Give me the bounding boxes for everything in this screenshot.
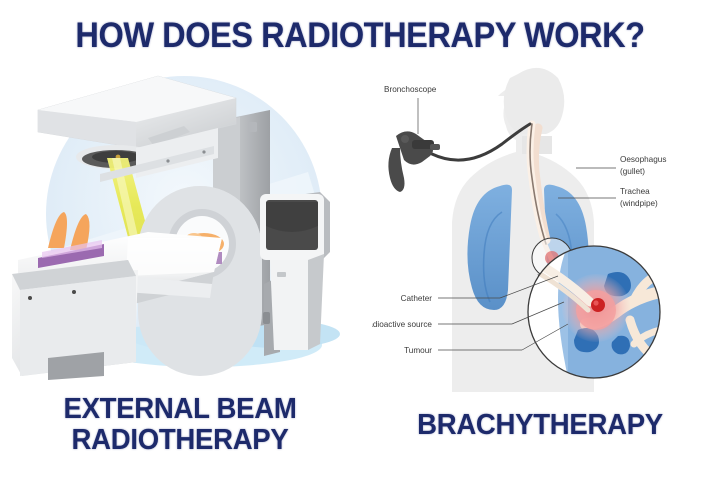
bronchoscope-device [388,131,440,192]
console-button [277,272,286,277]
linac-illustration [8,62,360,392]
magnified-inset [526,246,660,378]
console-handle [263,312,270,324]
radioactive-source-highlight [593,300,598,305]
label-oesophagus: Oesophagus [620,155,666,164]
base-bolt-2 [72,290,76,294]
label-bronchoscope: Bronchoscope [384,85,437,94]
label-oesophagus-sub: (gullet) [620,167,645,176]
gantry-vent [248,122,257,132]
caption-brachytherapy: BRACHYTHERAPY [377,410,704,441]
label-catheter: Catheter [401,294,433,303]
infographic-root: HOW DOES RADIOTHERAPY WORK? [0,0,720,480]
label-radioactive-source: Radioactive source [372,320,432,329]
console-pedestal [270,260,312,350]
caption-external-beam: EXTERNAL BEAM RADIOTHERAPY [19,394,342,455]
label-trachea-sub: (windpipe) [620,199,658,208]
panel-brachytherapy: Bronchoscope Oesophagus (gullet) Trachea… [372,62,716,392]
label-tumour: Tumour [404,346,432,355]
panel-external-beam [8,62,360,392]
radioactive-source-dot [591,298,605,312]
brachytherapy-illustration: Bronchoscope Oesophagus (gullet) Trachea… [372,62,716,392]
base-bolt-1 [28,296,32,300]
plate-screw-1 [202,150,205,153]
console-screen-glare [266,202,318,232]
page-title: HOW DOES RADIOTHERAPY WORK? [25,16,695,56]
plate-screw-2 [166,159,169,162]
caption-external-beam-line2: RADIOTHERAPY [19,425,342,456]
couch-top [126,238,222,276]
caption-external-beam-line1: EXTERNAL BEAM [19,394,342,425]
label-trachea: Trachea [620,187,650,196]
